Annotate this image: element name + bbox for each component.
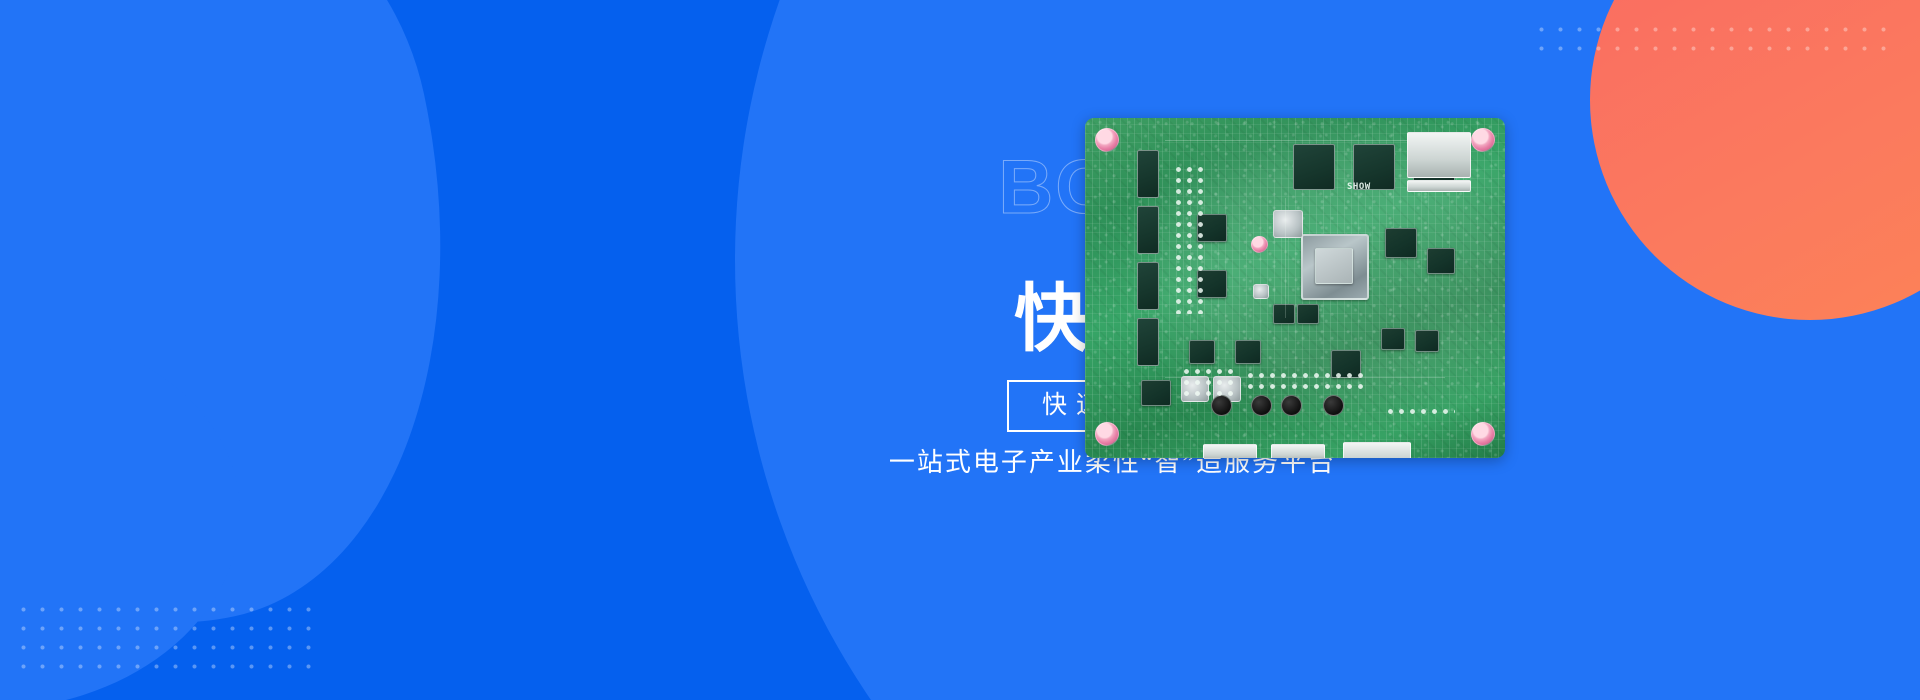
capacitor-component — [1281, 395, 1302, 416]
memory-chip — [1137, 318, 1159, 366]
pcb-product-image: SHOW — [1085, 118, 1505, 458]
ic-chip — [1381, 328, 1405, 350]
ic-chip — [1427, 248, 1455, 274]
ic-chip — [1273, 304, 1295, 324]
solder-pad-array — [1181, 366, 1237, 400]
card-slot-connector — [1407, 132, 1471, 178]
mounting-hole-icon — [1095, 128, 1119, 152]
solder-pad-array — [1385, 406, 1455, 418]
memory-chip — [1137, 206, 1159, 254]
ic-chip — [1415, 330, 1439, 352]
inductor-component — [1253, 284, 1269, 299]
hero-banner: BOMBOM 一分钟 快速报价 快速获取报价信息 一站式电子产业柔性“智”造服务… — [0, 0, 1920, 700]
io-connector — [1343, 442, 1411, 458]
silkscreen-line — [1165, 377, 1445, 378]
capacitor-component — [1323, 395, 1344, 416]
silkscreen-line — [1165, 140, 1425, 141]
mounting-hole-icon — [1471, 128, 1495, 152]
io-connector — [1271, 444, 1325, 458]
mounting-hole-icon — [1471, 422, 1495, 446]
card-slot-connector — [1407, 180, 1471, 192]
pcb-board: SHOW — [1085, 118, 1505, 458]
ic-chip — [1141, 380, 1171, 406]
silkscreen-line — [1285, 198, 1286, 318]
mounting-hole-icon — [1095, 422, 1119, 446]
silkscreen-brand-label: SHOW — [1347, 182, 1371, 192]
solder-pad-array — [1245, 370, 1365, 394]
dot-grid-bottom-left-icon — [14, 600, 314, 678]
ic-chip — [1297, 304, 1319, 324]
solder-pad-array — [1173, 164, 1209, 314]
mounting-hole-icon — [1251, 236, 1268, 253]
capacitor-component — [1251, 395, 1272, 416]
ic-chip — [1235, 340, 1261, 364]
processor-die — [1315, 248, 1353, 284]
memory-chip — [1137, 150, 1159, 198]
dram-chip — [1293, 144, 1335, 190]
ic-chip — [1385, 228, 1417, 258]
ic-chip — [1189, 340, 1215, 364]
io-connector — [1203, 444, 1257, 458]
dot-grid-top-right-icon — [1532, 20, 1892, 60]
inductor-component — [1273, 210, 1303, 238]
memory-chip — [1137, 262, 1159, 310]
